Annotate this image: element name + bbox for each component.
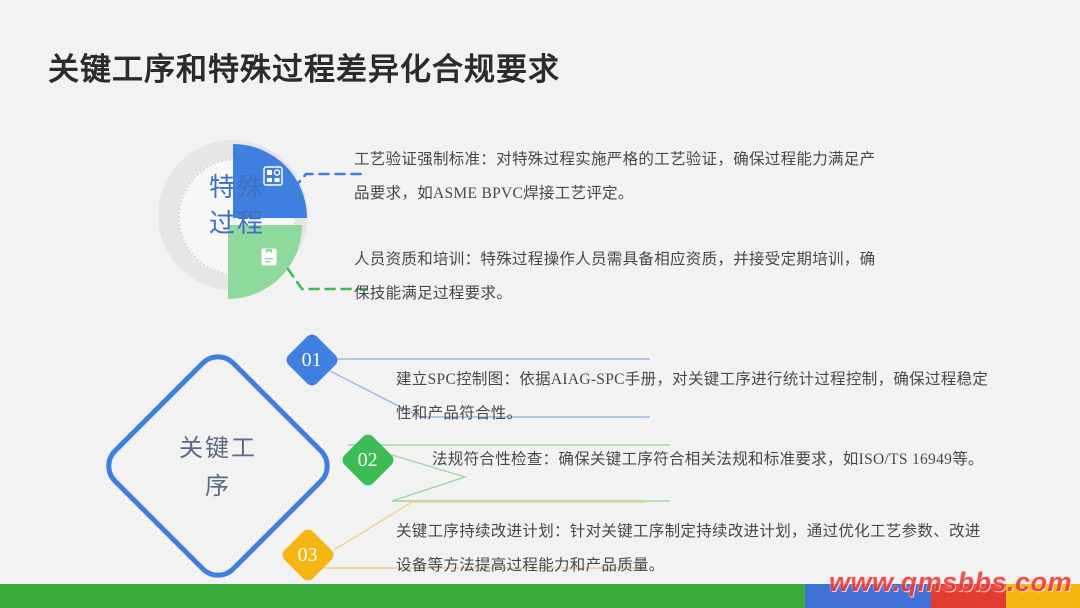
key-process-badge-02-number: 02 (358, 449, 378, 472)
key-process-item-2-text: 法规符合性检查：确保关键工序符合相关法规和标准要求，如ISO/TS 16949等… (432, 443, 992, 477)
key-process-badge-03-number: 03 (298, 544, 318, 567)
page-title: 关键工序和特殊过程差异化合规要求 (48, 44, 560, 89)
special-process-item-1-text: 工艺验证强制标准：对特殊过程实施严格的工艺验证，确保过程能力满足产品要求，如AS… (354, 143, 884, 211)
special-process-label: 特殊 过程 (176, 170, 298, 242)
special-process-label-line2: 过程 (176, 206, 298, 242)
key-process-label-line2: 序 (142, 468, 294, 506)
footer-bar-green (0, 584, 805, 608)
special-process-label-line1: 特殊 (176, 170, 298, 206)
key-process-label-line1: 关键工 (142, 430, 294, 468)
key-process-badge-01-number: 01 (302, 349, 322, 372)
special-process-item-2-text: 人员资质和培训：特殊过程操作人员需具备相应资质，并接受定期培训，确保技能满足过程… (354, 243, 884, 311)
key-process-label: 关键工 序 (142, 430, 294, 506)
key-process-item-1-text: 建立SPC控制图：依据AIAG-SPC手册，对关键工序进行统计过程控制，确保过程… (396, 363, 996, 431)
site-watermark: www.qmsbbs.com (829, 567, 1072, 598)
slide-canvas: 关键工序和特殊过程差异化合规要求 特殊 过程 (0, 0, 1080, 608)
clipboard-document-icon (259, 247, 279, 267)
